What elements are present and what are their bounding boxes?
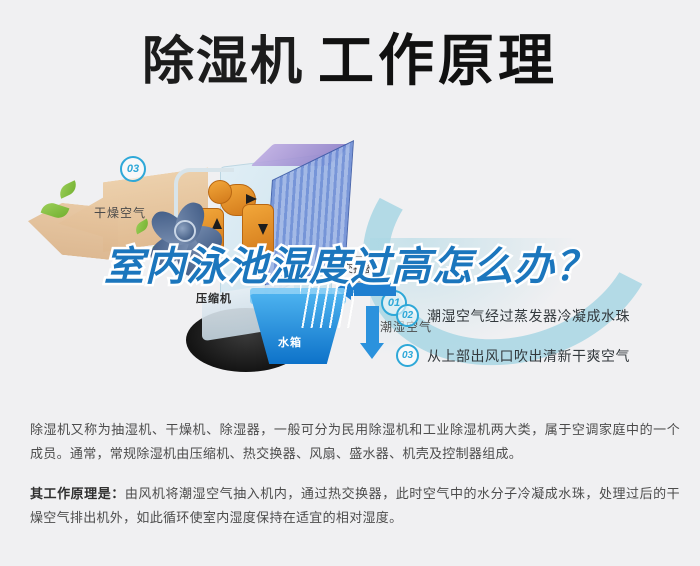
article-body: 除湿机又称为抽湿机、干燥机、除湿器，一般可分为民用除湿机和工业除湿机两大类，属于… bbox=[30, 418, 680, 546]
condensate-down-arrow-icon bbox=[366, 306, 379, 344]
label-water-tank: 水箱 bbox=[278, 334, 302, 350]
paragraph-definition: 除湿机又称为抽湿机、干燥机、除湿器，一般可分为民用除湿机和工业除湿机两大类，属于… bbox=[30, 418, 680, 466]
overlay-headline: 室内泳池湿度过高怎么办？ bbox=[104, 246, 700, 289]
fan-hub bbox=[174, 220, 196, 242]
title-part-dehumidifier: 除湿机 bbox=[142, 36, 304, 88]
paragraph-principle-text: 由风机将潮湿空气抽入机内，通过热交换器，此时空气中的水分子冷凝成水珠，处理过后的… bbox=[30, 486, 680, 525]
step-badge: 02 bbox=[396, 304, 419, 327]
label-compressor: 压缩机 bbox=[196, 290, 232, 306]
list-item: 03 从上部出风口吹出清新干爽空气 bbox=[396, 344, 696, 367]
step-text: 潮湿空气经过蒸发器冷凝成水珠 bbox=[427, 306, 630, 326]
poster-root: 除湿机 工作原理 03 干燥空气 02 热交换器 01 潮湿空气 bbox=[0, 0, 700, 566]
step-text: 从上部出风口吹出清新干爽空气 bbox=[427, 346, 630, 366]
title-part-principle: 工作原理 bbox=[318, 34, 558, 90]
page-title: 除湿机 工作原理 bbox=[0, 22, 700, 102]
step-list: 02 潮湿空气经过蒸发器冷凝成水珠 03 从上部出风口吹出清新干爽空气 bbox=[396, 304, 696, 384]
label-dry-air: 干燥空气 bbox=[94, 204, 146, 221]
condensate-stream-graphic bbox=[300, 284, 354, 328]
list-item: 02 潮湿空气经过蒸发器冷凝成水珠 bbox=[396, 304, 696, 327]
step-badge: 03 bbox=[396, 344, 419, 367]
flow-arrow-right-icon bbox=[246, 194, 257, 204]
badge-03: 03 bbox=[120, 156, 146, 182]
paragraph-principle: 其工作原理是：由风机将潮湿空气抽入机内，通过热交换器，此时空气中的水分子冷凝成水… bbox=[30, 482, 680, 530]
flow-arrow-down-icon bbox=[258, 224, 268, 235]
leaf-icon bbox=[57, 180, 80, 198]
paragraph-lead: 其工作原理是： bbox=[30, 486, 125, 501]
